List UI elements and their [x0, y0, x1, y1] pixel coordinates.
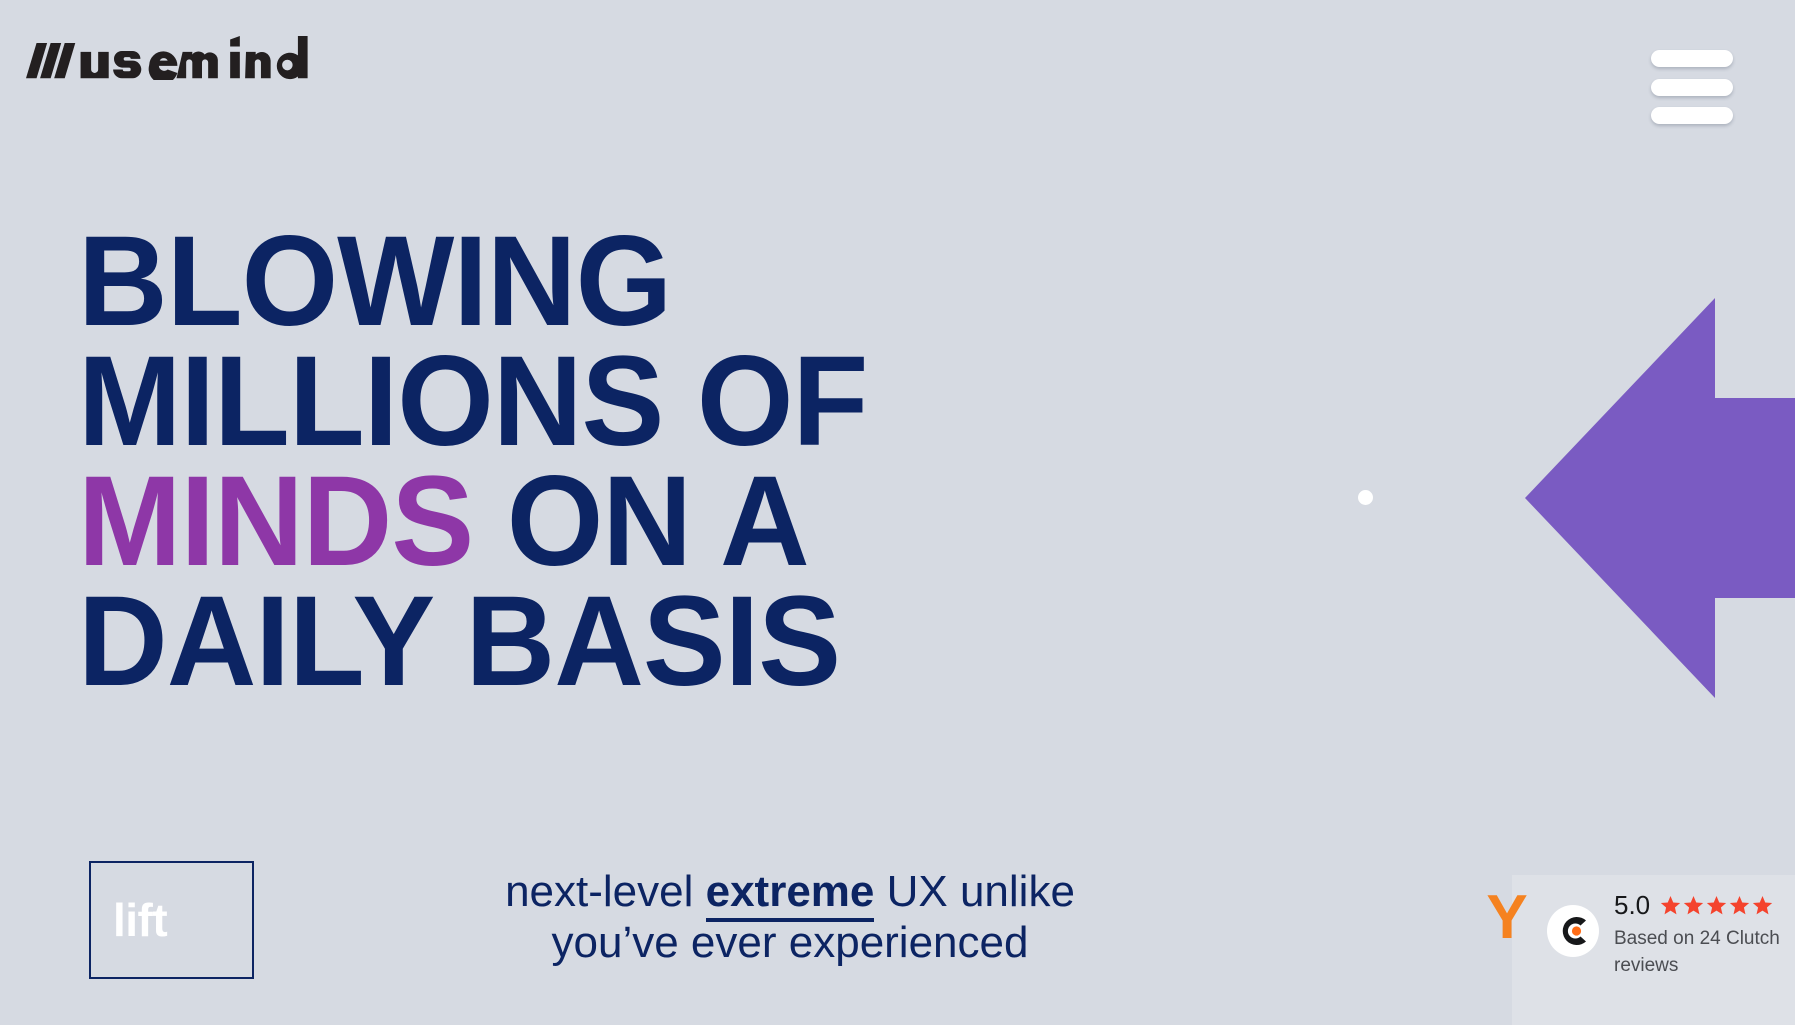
clutch-score: 5.0 — [1614, 890, 1650, 920]
star-icon — [1729, 895, 1750, 916]
hamburger-bar-bottom — [1651, 107, 1733, 124]
clutch-rating-badge[interactable]: 5.0 Based on 24 Clutch reviews — [1547, 888, 1789, 979]
clutch-review-caption: Based on 24 Clutch reviews — [1614, 925, 1789, 979]
clutch-star-rating — [1660, 895, 1773, 916]
star-icon — [1683, 895, 1704, 916]
clutch-score-row: 5.0 — [1614, 890, 1789, 920]
title-line-3: MINDS ON A — [78, 462, 1048, 582]
hero-section: BLOWING MILLIONS OF MINDS ON A DAILY BAS… — [0, 0, 1795, 1025]
hamburger-bar-middle — [1651, 79, 1733, 96]
title-line-1: BLOWING — [78, 222, 1048, 342]
brand-logo[interactable] — [26, 36, 308, 80]
clutch-info: 5.0 Based on 24 Clutch reviews — [1614, 888, 1789, 979]
title-line-2: MILLIONS OF — [78, 342, 1048, 462]
title-line-4: DAILY BASIS — [78, 582, 1048, 702]
tagline-emphasis: extreme — [706, 867, 875, 922]
cursor-dot-icon — [1358, 490, 1373, 505]
star-icon — [1752, 895, 1773, 916]
musemind-wordmark-icon — [26, 36, 308, 80]
site-header — [0, 0, 1795, 140]
star-icon — [1660, 895, 1681, 916]
star-icon — [1706, 895, 1727, 916]
y-combinator-badge[interactable]: Y — [1477, 882, 1537, 954]
lift-cta-label: lift — [113, 897, 167, 943]
left-arrow-icon — [1525, 288, 1795, 708]
tagline-part-1: next-level — [505, 867, 706, 916]
y-combinator-icon: Y — [1486, 887, 1527, 949]
hero-tagline: next-level extreme UX unlike you’ve ever… — [470, 866, 1110, 968]
page-title: BLOWING MILLIONS OF MINDS ON A DAILY BAS… — [78, 222, 1048, 702]
hamburger-bar-top — [1651, 50, 1733, 67]
hamburger-menu-button[interactable] — [1651, 50, 1733, 124]
clutch-logo-icon — [1547, 905, 1599, 957]
lift-cta-button[interactable]: lift — [89, 861, 254, 979]
